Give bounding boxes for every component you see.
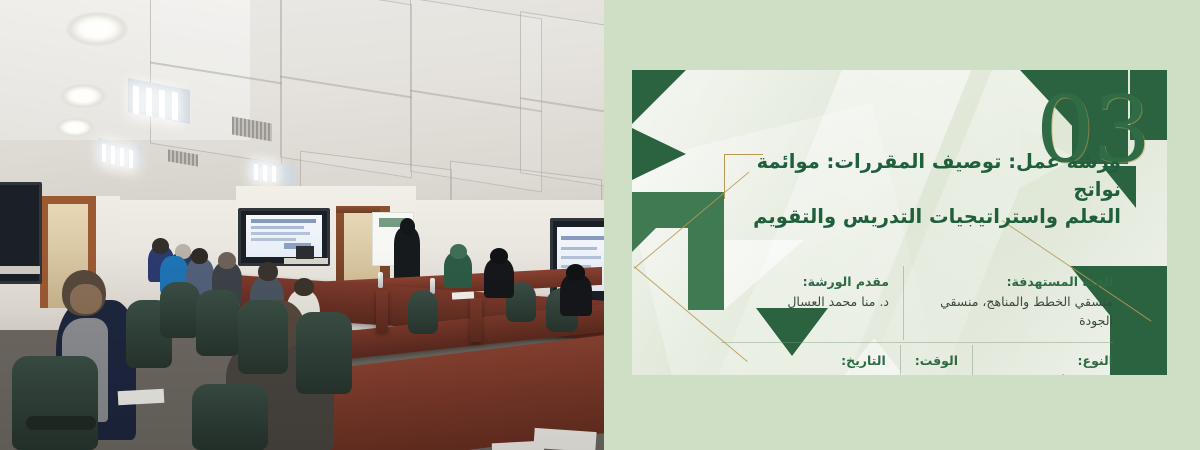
detail-time: الوقت: 12:45 — ساعتان: [901, 345, 973, 376]
detail-presenter: مقدم الورشة: د. منا محمد العسال: [707, 266, 904, 340]
detail-date: التاريخ: 27/ 10 /1447هـ: [704, 345, 901, 376]
training-room-photo: [0, 0, 604, 450]
detail-label: مقدم الورشة:: [721, 273, 889, 292]
details-row-bottom: النوع: ورشة عمل الوقت: 12:45 — ساعتان ال…: [707, 345, 1127, 376]
decor-corner-notch: [632, 228, 656, 252]
detail-value: منسقي الخطط والمناهج، منسقي الجودة: [918, 292, 1113, 331]
details-divider: [721, 342, 1113, 343]
workshop-card: 03 ورشة عمل: توصيف المقررات: موائمة نوات…: [632, 70, 1167, 375]
decor-triangle-top-left: [632, 70, 688, 124]
detail-value: ورشة عمل: [987, 370, 1113, 375]
details-row-top: الفئة المستهدفة: منسقي الخطط والمناهج، م…: [707, 266, 1127, 340]
photo-vignette: [0, 0, 604, 450]
detail-label: الوقت:: [915, 352, 958, 371]
decor-triangle-left: [632, 128, 686, 180]
detail-value: د. منا محمد العسال: [721, 292, 889, 311]
detail-label: التاريخ:: [718, 352, 886, 371]
detail-target-audience: الفئة المستهدفة: منسقي الخطط والمناهج، م…: [904, 266, 1127, 340]
workshop-title-line-1: ورشة عمل: توصيف المقررات: موائمة نواتج: [723, 148, 1121, 203]
workshop-details: الفئة المستهدفة: منسقي الخطط والمناهج، م…: [707, 266, 1127, 375]
detail-value: 27/ 10 /1447هـ: [718, 370, 886, 375]
detail-label: النوع:: [987, 352, 1113, 371]
announcement-panel: 03 ورشة عمل: توصيف المقررات: موائمة نوات…: [604, 0, 1200, 450]
detail-type: النوع: ورشة عمل: [973, 345, 1127, 376]
detail-value: 12:45 — ساعتان: [915, 370, 958, 375]
workshop-title-line-2: التعلم واستراتيجيات التدريس والتقويم: [723, 203, 1121, 231]
detail-label: الفئة المستهدفة:: [918, 273, 1113, 292]
screenshot-root: 03 ورشة عمل: توصيف المقررات: موائمة نوات…: [0, 0, 1200, 450]
workshop-title: ورشة عمل: توصيف المقررات: موائمة نواتج ا…: [723, 148, 1121, 231]
